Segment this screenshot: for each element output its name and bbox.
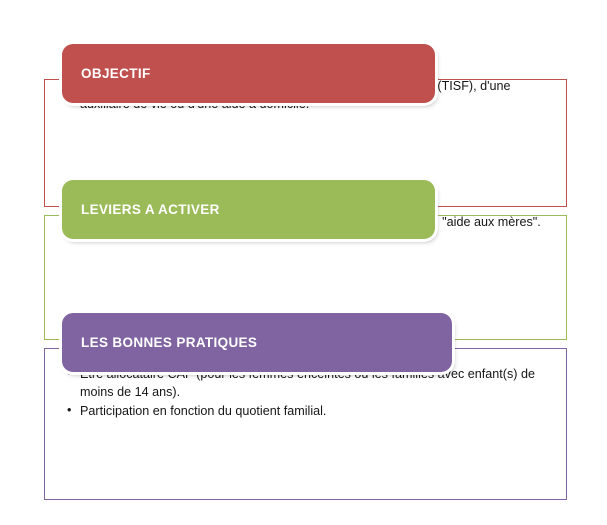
callout-block-leviers: LEVIERS A ACTIVER Caisse d'Allocations F…: [44, 180, 567, 249]
callout-header-pratiques: LES BONNES PRATIQUES: [62, 313, 452, 372]
callout-block-pratiques: LES BONNES PRATIQUES Pas de condition d’…: [44, 313, 567, 438]
callout-header-leviers: LEVIERS A ACTIVER: [62, 180, 435, 239]
callout-title-objectif: OBJECTIF: [62, 67, 151, 81]
fiche-action-page: OBJECTIF Besoin d'une Technicienne de l'…: [0, 0, 607, 525]
callout-block-objectif: OBJECTIF Besoin d'une Technicienne de l'…: [44, 44, 567, 131]
callout-header-objectif: OBJECTIF: [62, 44, 435, 103]
list-item: Participation en fonction du quotient fa…: [66, 403, 545, 421]
callout-title-pratiques: LES BONNES PRATIQUES: [62, 336, 257, 350]
callout-title-leviers: LEVIERS A ACTIVER: [62, 203, 220, 217]
